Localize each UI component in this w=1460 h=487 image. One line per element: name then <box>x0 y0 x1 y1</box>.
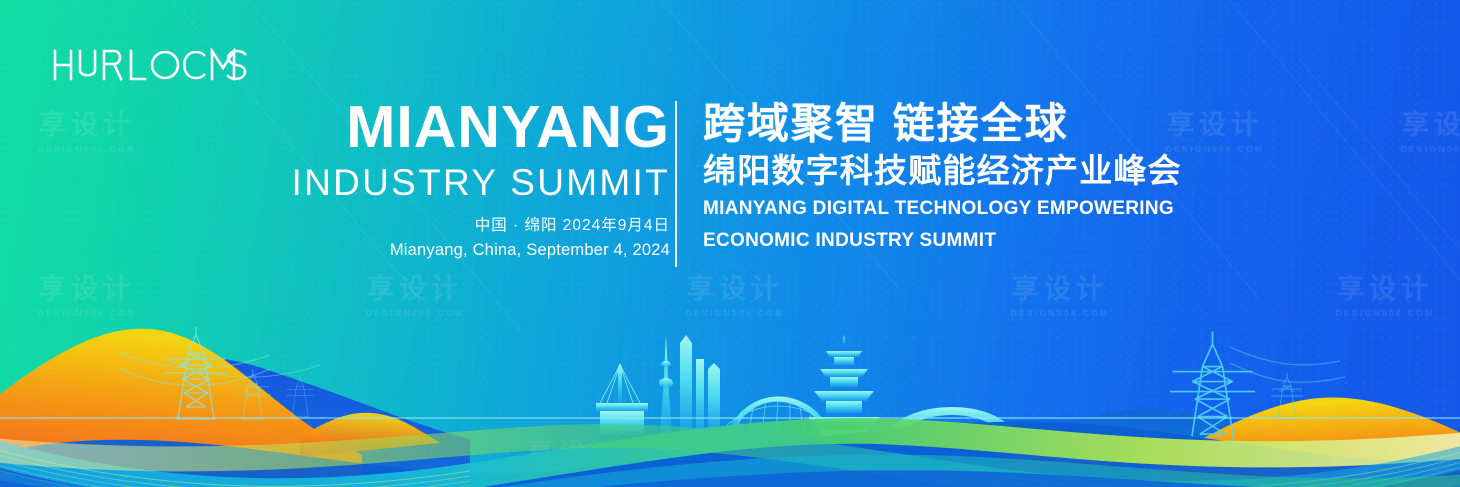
right-title-block: 跨域聚智 链接全球 绵阳数字科技赋能经济产业峰会 MIANYANG DIGITA… <box>703 100 1182 255</box>
brand-logo[interactable] <box>52 48 248 82</box>
summit-name-cn: 绵阳数字科技赋能经济产业峰会 <box>703 151 1182 191</box>
event-subtitle: INDUSTRY SUMMIT <box>170 162 670 203</box>
event-banner: 享设计 DESIGN006.COM 享设计 DESIGN006.COM 享设计 … <box>0 0 1460 487</box>
event-title: MIANYANG <box>170 99 670 157</box>
tower-tall-2 <box>696 359 704 435</box>
tower-tall-3 <box>708 363 720 435</box>
watermark-cn: 享设计 <box>12 112 162 139</box>
scenery-illustration <box>0 307 1460 487</box>
event-location-en: Mianyang, China, September 4, 2024 <box>170 241 670 260</box>
horizon-line <box>0 417 1460 419</box>
bridge-deck <box>596 403 648 411</box>
summit-name-en-line1: MIANYANG DIGITAL TECHNOLOGY EMPOWERING <box>703 196 1182 223</box>
watermark-cn: 享设计 <box>340 276 490 303</box>
watermark-cn: 享设计 <box>985 276 1135 303</box>
vertical-divider <box>675 101 677 267</box>
slogan-cn: 跨域聚智 链接全球 <box>703 100 1182 147</box>
watermark-cn: 享设计 <box>660 276 810 303</box>
tower-tall-1 <box>680 335 692 435</box>
watermark-en: DESIGN006.COM <box>12 144 162 154</box>
watermark-en: DESIGN006.COM <box>1375 144 1460 154</box>
left-title-block: MIANYANG INDUSTRY SUMMIT 中国 · 绵阳 2024年9月… <box>170 99 670 260</box>
watermark-cn: 享设计 <box>12 276 162 303</box>
summit-name-en-line2: ECONOMIC INDUSTRY SUMMIT <box>703 228 1182 255</box>
watermark-cn: 享设计 <box>1375 112 1460 139</box>
event-location-cn: 中国 · 绵阳 2024年9月4日 <box>170 213 670 235</box>
watermark-cn: 享设计 <box>1310 276 1460 303</box>
hurlooms-wordmark <box>52 48 248 82</box>
